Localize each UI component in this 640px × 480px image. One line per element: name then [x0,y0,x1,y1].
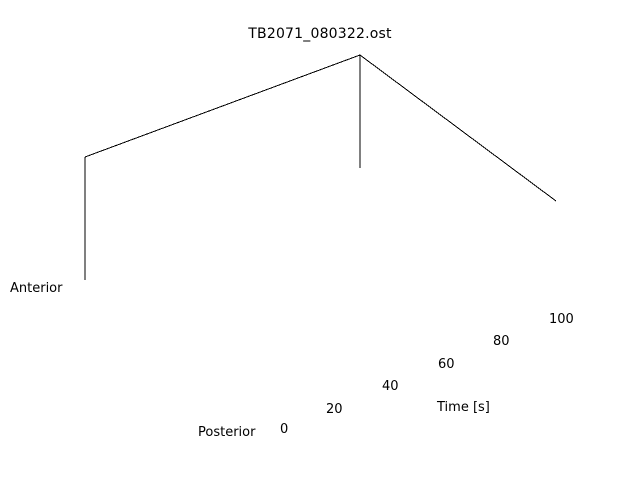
tick-label-0: 0 [280,422,288,437]
surface-plot-svg [0,0,640,480]
page-title: TB2071_080322.ost [0,26,640,42]
tick-label-20: 20 [326,402,343,417]
axis-label-posterior: Posterior [198,425,255,440]
axis-label-time: Time [s] [437,400,490,415]
figure-canvas: TB2071_080322.ost Anterior Posterior Tim… [0,0,640,480]
tick-label-40: 40 [382,379,399,394]
axis-label-anterior: Anterior [10,281,62,296]
tick-label-60: 60 [438,357,455,372]
tick-label-100: 100 [549,312,574,327]
tick-label-80: 80 [493,334,510,349]
